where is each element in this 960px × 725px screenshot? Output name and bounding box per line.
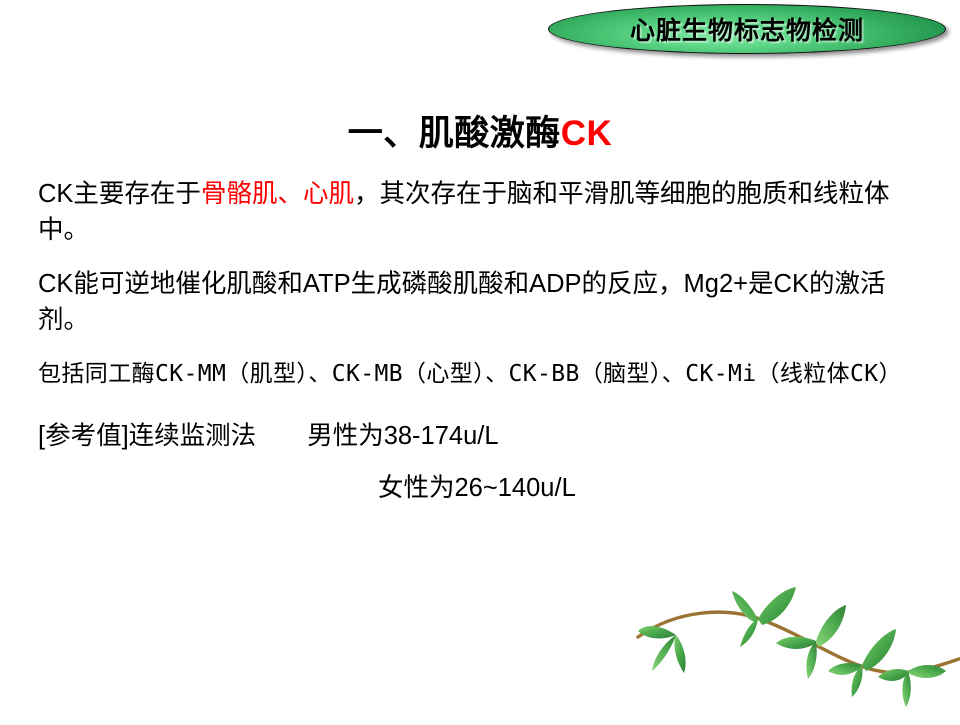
reference-value-female: 女性为26~140u/L [378,474,576,502]
header-banner: 心脏生物标志物检测 [548,4,946,54]
reference-label: [参考值]连续监测法 [38,422,256,450]
page-title-accent: CK [561,114,613,153]
ivy-vine-decoration [630,585,960,720]
reference-values: [参考值]连续监测法 男性为38-174u/L 女性为26~140u/L [38,410,922,514]
banner-title-text: 心脏生物标志物检测 [548,4,946,54]
paragraph-location-part1: CK主要存在于 [38,180,201,208]
slide-body: CK主要存在于骨骼肌、心肌，其次存在于脑和平滑肌等细胞的胞质和线粒体中。 CK能… [38,176,922,514]
paragraph-location-highlight: 骨骼肌、心肌 [201,180,354,208]
page-title: 一、肌酸激酶CK [0,105,960,156]
page-title-main: 一、肌酸激酶 [348,114,561,153]
reference-value-male: 男性为38-174u/L [307,422,498,450]
ivy-vine-icon [630,585,960,720]
paragraph-reaction: CK能可逆地催化肌酸和ATP生成磷酸肌酸和ADP的反应，Mg2+是CK的激活剂。 [38,266,922,338]
paragraph-isoenzymes: 包括同工酶CK-MM（肌型）、CK-MB（心型）、CK-BB（脑型）、CK-Mi… [38,356,922,392]
reference-line-female: 女性为26~140u/L [38,462,922,514]
reference-line-male: [参考值]连续监测法 男性为38-174u/L [38,410,922,462]
paragraph-location: CK主要存在于骨骼肌、心肌，其次存在于脑和平滑肌等细胞的胞质和线粒体中。 [38,176,922,248]
